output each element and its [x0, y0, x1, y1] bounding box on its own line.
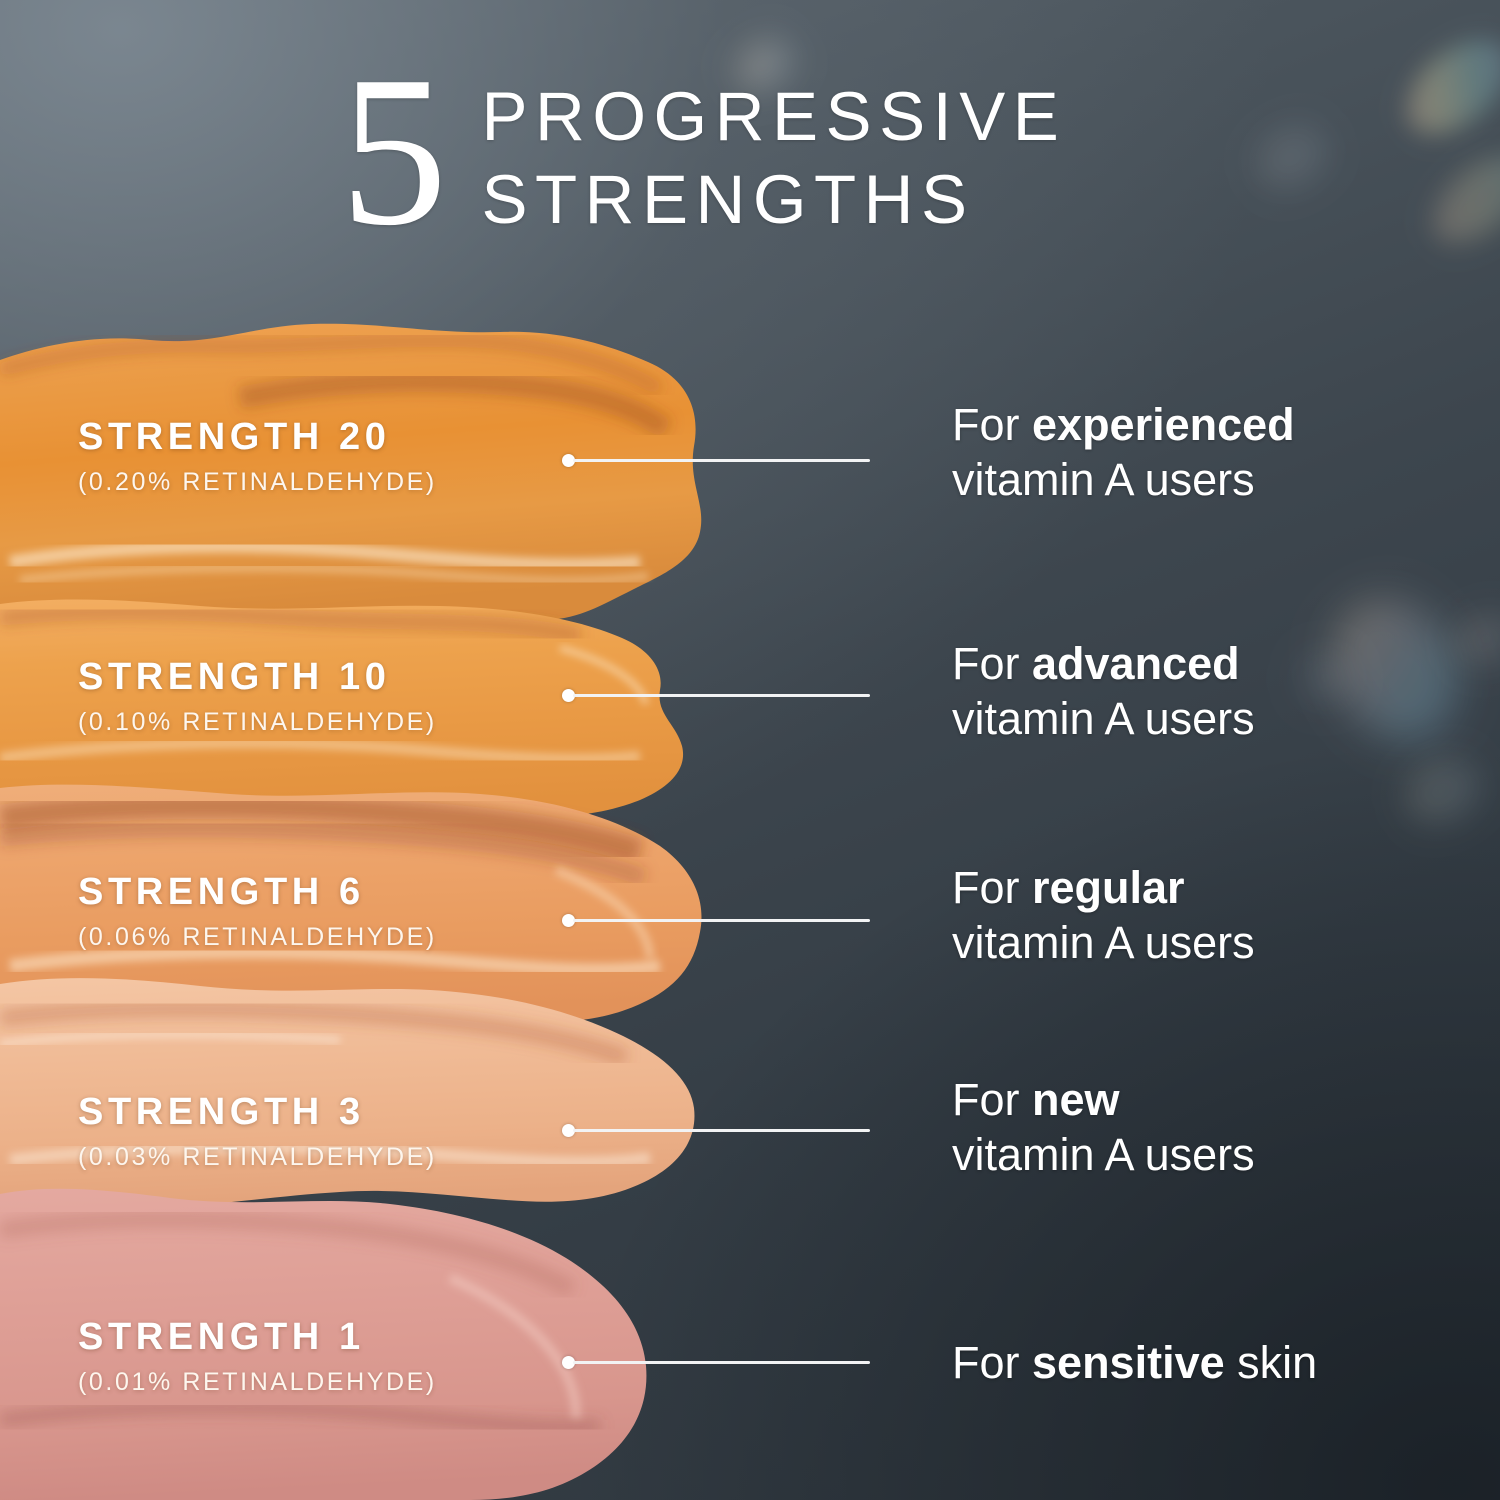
connector-line-6 [562, 910, 870, 930]
lens-flare-icon [1418, 138, 1500, 259]
description-emphasis: advanced [1032, 638, 1240, 689]
bokeh-icon [1394, 746, 1491, 836]
description-tail: skin [1237, 1337, 1317, 1388]
strength-label-main: STRENGTH 3 [78, 1093, 437, 1131]
description-1: For sensitive skin [952, 1336, 1317, 1391]
lens-flare-icon [1390, 22, 1500, 153]
connector-line-1 [562, 1352, 870, 1372]
description-emphasis: experienced [1032, 399, 1295, 450]
bokeh-icon [1309, 577, 1483, 763]
bokeh-icon [1448, 603, 1500, 676]
strength-label-20: STRENGTH 20 (0.20% RETINALDEHYDE) [78, 418, 437, 495]
description-line-1: For advanced [952, 637, 1255, 692]
description-prefix: For [952, 1337, 1020, 1388]
strength-label-sub: (0.10% RETINALDEHYDE) [78, 710, 437, 735]
description-6: For regular vitamin A users [952, 861, 1255, 971]
infographic-canvas: 5 PROGRESSIVE STRENGTHS STRENGTH 20 (0.2… [0, 0, 1500, 1500]
description-prefix: For [952, 638, 1020, 689]
description-line-2: vitamin A users [952, 916, 1255, 971]
strength-label-main: STRENGTH 6 [78, 873, 437, 911]
bokeh-icon [1292, 648, 1358, 708]
connector-line-3 [562, 1120, 870, 1140]
strength-label-6: STRENGTH 6 (0.06% RETINALDEHYDE) [78, 873, 437, 950]
connector-line-10 [562, 685, 870, 705]
lens-flare-icon [1245, 113, 1338, 200]
description-line-2: vitamin A users [952, 692, 1255, 747]
description-line-1: For new [952, 1073, 1255, 1128]
connector-rule [573, 694, 870, 697]
description-20: For experienced vitamin A users [952, 398, 1295, 508]
strength-label-main: STRENGTH 1 [78, 1318, 437, 1356]
connector-rule [573, 919, 870, 922]
description-prefix: For [952, 399, 1020, 450]
connector-rule [573, 459, 870, 462]
description-emphasis: new [1032, 1074, 1120, 1125]
description-line-2: vitamin A users [952, 1128, 1255, 1183]
description-3: For new vitamin A users [952, 1073, 1255, 1183]
strength-label-3: STRENGTH 3 (0.03% RETINALDEHYDE) [78, 1093, 437, 1170]
connector-rule [573, 1361, 870, 1364]
description-prefix: For [952, 1074, 1020, 1125]
strength-label-10: STRENGTH 10 (0.10% RETINALDEHYDE) [78, 658, 437, 735]
description-emphasis: regular [1032, 862, 1185, 913]
description-line-2: vitamin A users [952, 453, 1295, 508]
description-prefix: For [952, 862, 1020, 913]
strength-label-sub: (0.06% RETINALDEHYDE) [78, 925, 437, 950]
title-number: 5 [340, 54, 448, 248]
strength-label-1: STRENGTH 1 (0.01% RETINALDEHYDE) [78, 1318, 437, 1395]
strength-label-main: STRENGTH 10 [78, 658, 437, 696]
description-line-1: For sensitive skin [952, 1336, 1317, 1391]
strength-label-sub: (0.01% RETINALDEHYDE) [78, 1370, 437, 1395]
title-words: PROGRESSIVE STRENGTHS [482, 62, 1067, 242]
description-line-1: For experienced [952, 398, 1295, 453]
connector-line-20 [562, 450, 870, 470]
title-line-2: STRENGTHS [482, 159, 1067, 242]
connector-rule [573, 1129, 870, 1132]
strength-label-sub: (0.03% RETINALDEHYDE) [78, 1145, 437, 1170]
strength-label-main: STRENGTH 20 [78, 418, 437, 456]
page-title: 5 PROGRESSIVE STRENGTHS [340, 62, 1240, 262]
strength-label-sub: (0.20% RETINALDEHYDE) [78, 470, 437, 495]
title-line-1: PROGRESSIVE [482, 76, 1067, 159]
description-10: For advanced vitamin A users [952, 637, 1255, 747]
description-emphasis: sensitive [1032, 1337, 1225, 1388]
description-line-1: For regular [952, 861, 1255, 916]
